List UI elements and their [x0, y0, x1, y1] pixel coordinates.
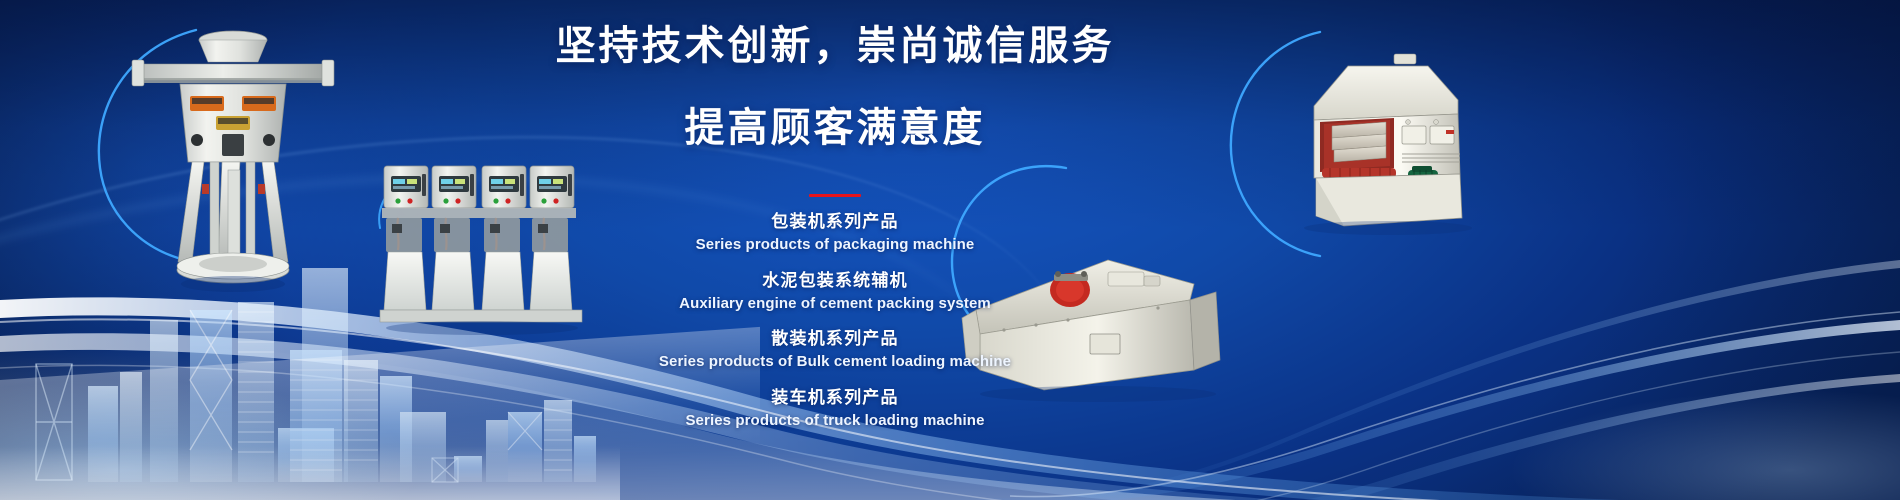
product-item-truck-loading-machine[interactable]: 装车机系列产品 Series products of truck loading… [520, 387, 1150, 432]
product-name-cn: 装车机系列产品 [520, 387, 1150, 410]
product-name-en: Series products of Bulk cement loading m… [520, 351, 1150, 373]
product-item-packaging-machine[interactable]: 包装机系列产品 Series products of packaging mac… [520, 211, 1150, 256]
promo-banner: 坚持技术创新，崇尚诚信服务 提高顾客满意度 包装机系列产品 Series pro… [0, 0, 1900, 500]
divider-wrap [520, 194, 1150, 197]
product-item-bulk-loading-machine[interactable]: 散装机系列产品 Series products of Bulk cement l… [520, 328, 1150, 373]
rotary-packing-machine-photo [118, 12, 348, 332]
product-name-en: Series products of truck loading machine [520, 410, 1150, 432]
product-name-cn: 水泥包装系统辅机 [520, 270, 1150, 293]
headline-line-2: 提高顾客满意度 [520, 108, 1150, 148]
product-name-cn: 散装机系列产品 [520, 328, 1150, 351]
product-list: 包装机系列产品 Series products of packaging mac… [520, 211, 1150, 432]
headline-line-1: 坚持技术创新，崇尚诚信服务 [520, 26, 1150, 66]
truck-loading-machine-photo [1282, 50, 1497, 235]
product-name-en: Series products of packaging machine [520, 234, 1150, 256]
copy-block: 坚持技术创新，崇尚诚信服务 提高顾客满意度 包装机系列产品 Series pro… [520, 26, 1150, 432]
product-name-cn: 包装机系列产品 [520, 211, 1150, 234]
product-name-en: Auxiliary engine of cement packing syste… [520, 293, 1150, 315]
product-item-cement-packing-auxiliary[interactable]: 水泥包装系统辅机 Auxiliary engine of cement pack… [520, 270, 1150, 315]
red-divider [809, 194, 861, 197]
